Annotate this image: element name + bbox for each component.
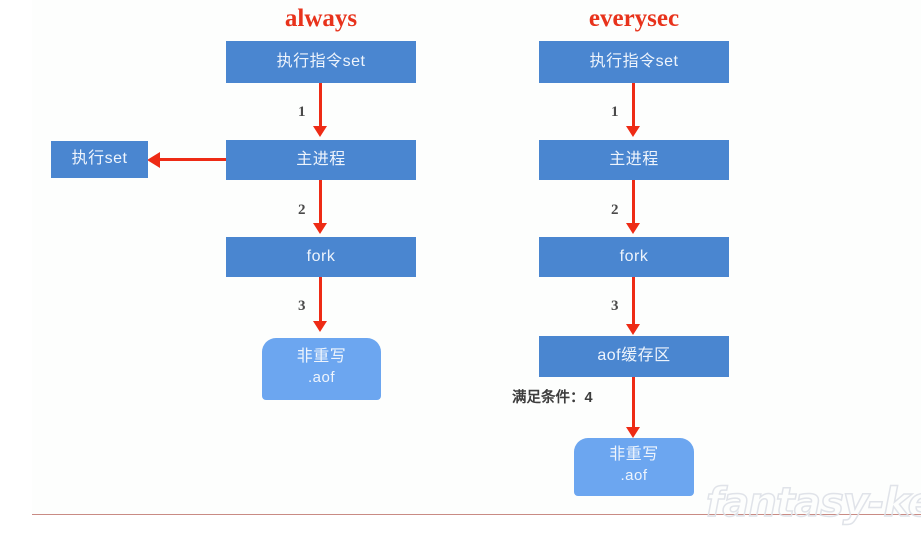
edge-always-1-line <box>319 83 322 128</box>
diagram-canvas: always 执行指令set 1 主进程 执行set 2 fork 3 非重写 … <box>0 0 921 534</box>
column-title-everysec: everysec <box>539 5 729 33</box>
column-title-always: always <box>226 5 416 33</box>
edge-everysec-1-line <box>632 83 635 128</box>
node-always-aof-file: 非重写 .aof <box>262 338 381 400</box>
edge-everysec-2-line <box>632 180 635 225</box>
node-always-main-process: 主进程 <box>226 140 416 180</box>
edge-label-everysec-3: 3 <box>611 298 619 315</box>
node-always-fork: fork <box>226 237 416 277</box>
edge-label-always-1: 1 <box>298 104 306 121</box>
node-everysec-execute-command: 执行指令set <box>539 41 729 83</box>
node-everysec-aof-buffer: aof缓存区 <box>539 336 729 377</box>
edge-label-everysec-4: 满足条件：4 <box>512 386 593 407</box>
node-everysec-main-process: 主进程 <box>539 140 729 180</box>
node-always-execute-set: 执行set <box>51 141 148 178</box>
slide-content-area <box>32 0 921 514</box>
edge-label-always-2: 2 <box>298 202 306 219</box>
aof-file-extension-everysec: .aof <box>620 467 647 484</box>
edge-everysec-3-arrowhead <box>626 324 640 335</box>
node-always-execute-command: 执行指令set <box>226 41 416 83</box>
edge-always-3-line <box>319 277 322 323</box>
edge-everysec-4-line <box>632 377 635 429</box>
watermark-text: fantasy-ke <box>706 480 921 526</box>
node-everysec-fork: fork <box>539 237 729 277</box>
aof-file-title-always: 非重写 <box>297 348 347 366</box>
edge-always-3-arrowhead <box>313 321 327 332</box>
edge-label-always-3: 3 <box>298 298 306 315</box>
edge-everysec-4-arrowhead <box>626 427 640 438</box>
aof-file-title-everysec: 非重写 <box>609 446 659 464</box>
edge-always-side-line <box>160 158 226 161</box>
edge-always-side-arrowhead <box>147 152 160 168</box>
edge-everysec-2-arrowhead <box>626 223 640 234</box>
aof-file-extension-always: .aof <box>308 369 335 386</box>
edge-everysec-3-line <box>632 277 635 325</box>
edge-always-2-line <box>319 180 322 225</box>
node-everysec-aof-file: 非重写 .aof <box>574 438 694 496</box>
edge-always-1-arrowhead <box>313 126 327 137</box>
edge-label-everysec-2: 2 <box>611 202 619 219</box>
edge-label-everysec-1: 1 <box>611 104 619 121</box>
edge-always-2-arrowhead <box>313 223 327 234</box>
edge-everysec-1-arrowhead <box>626 126 640 137</box>
